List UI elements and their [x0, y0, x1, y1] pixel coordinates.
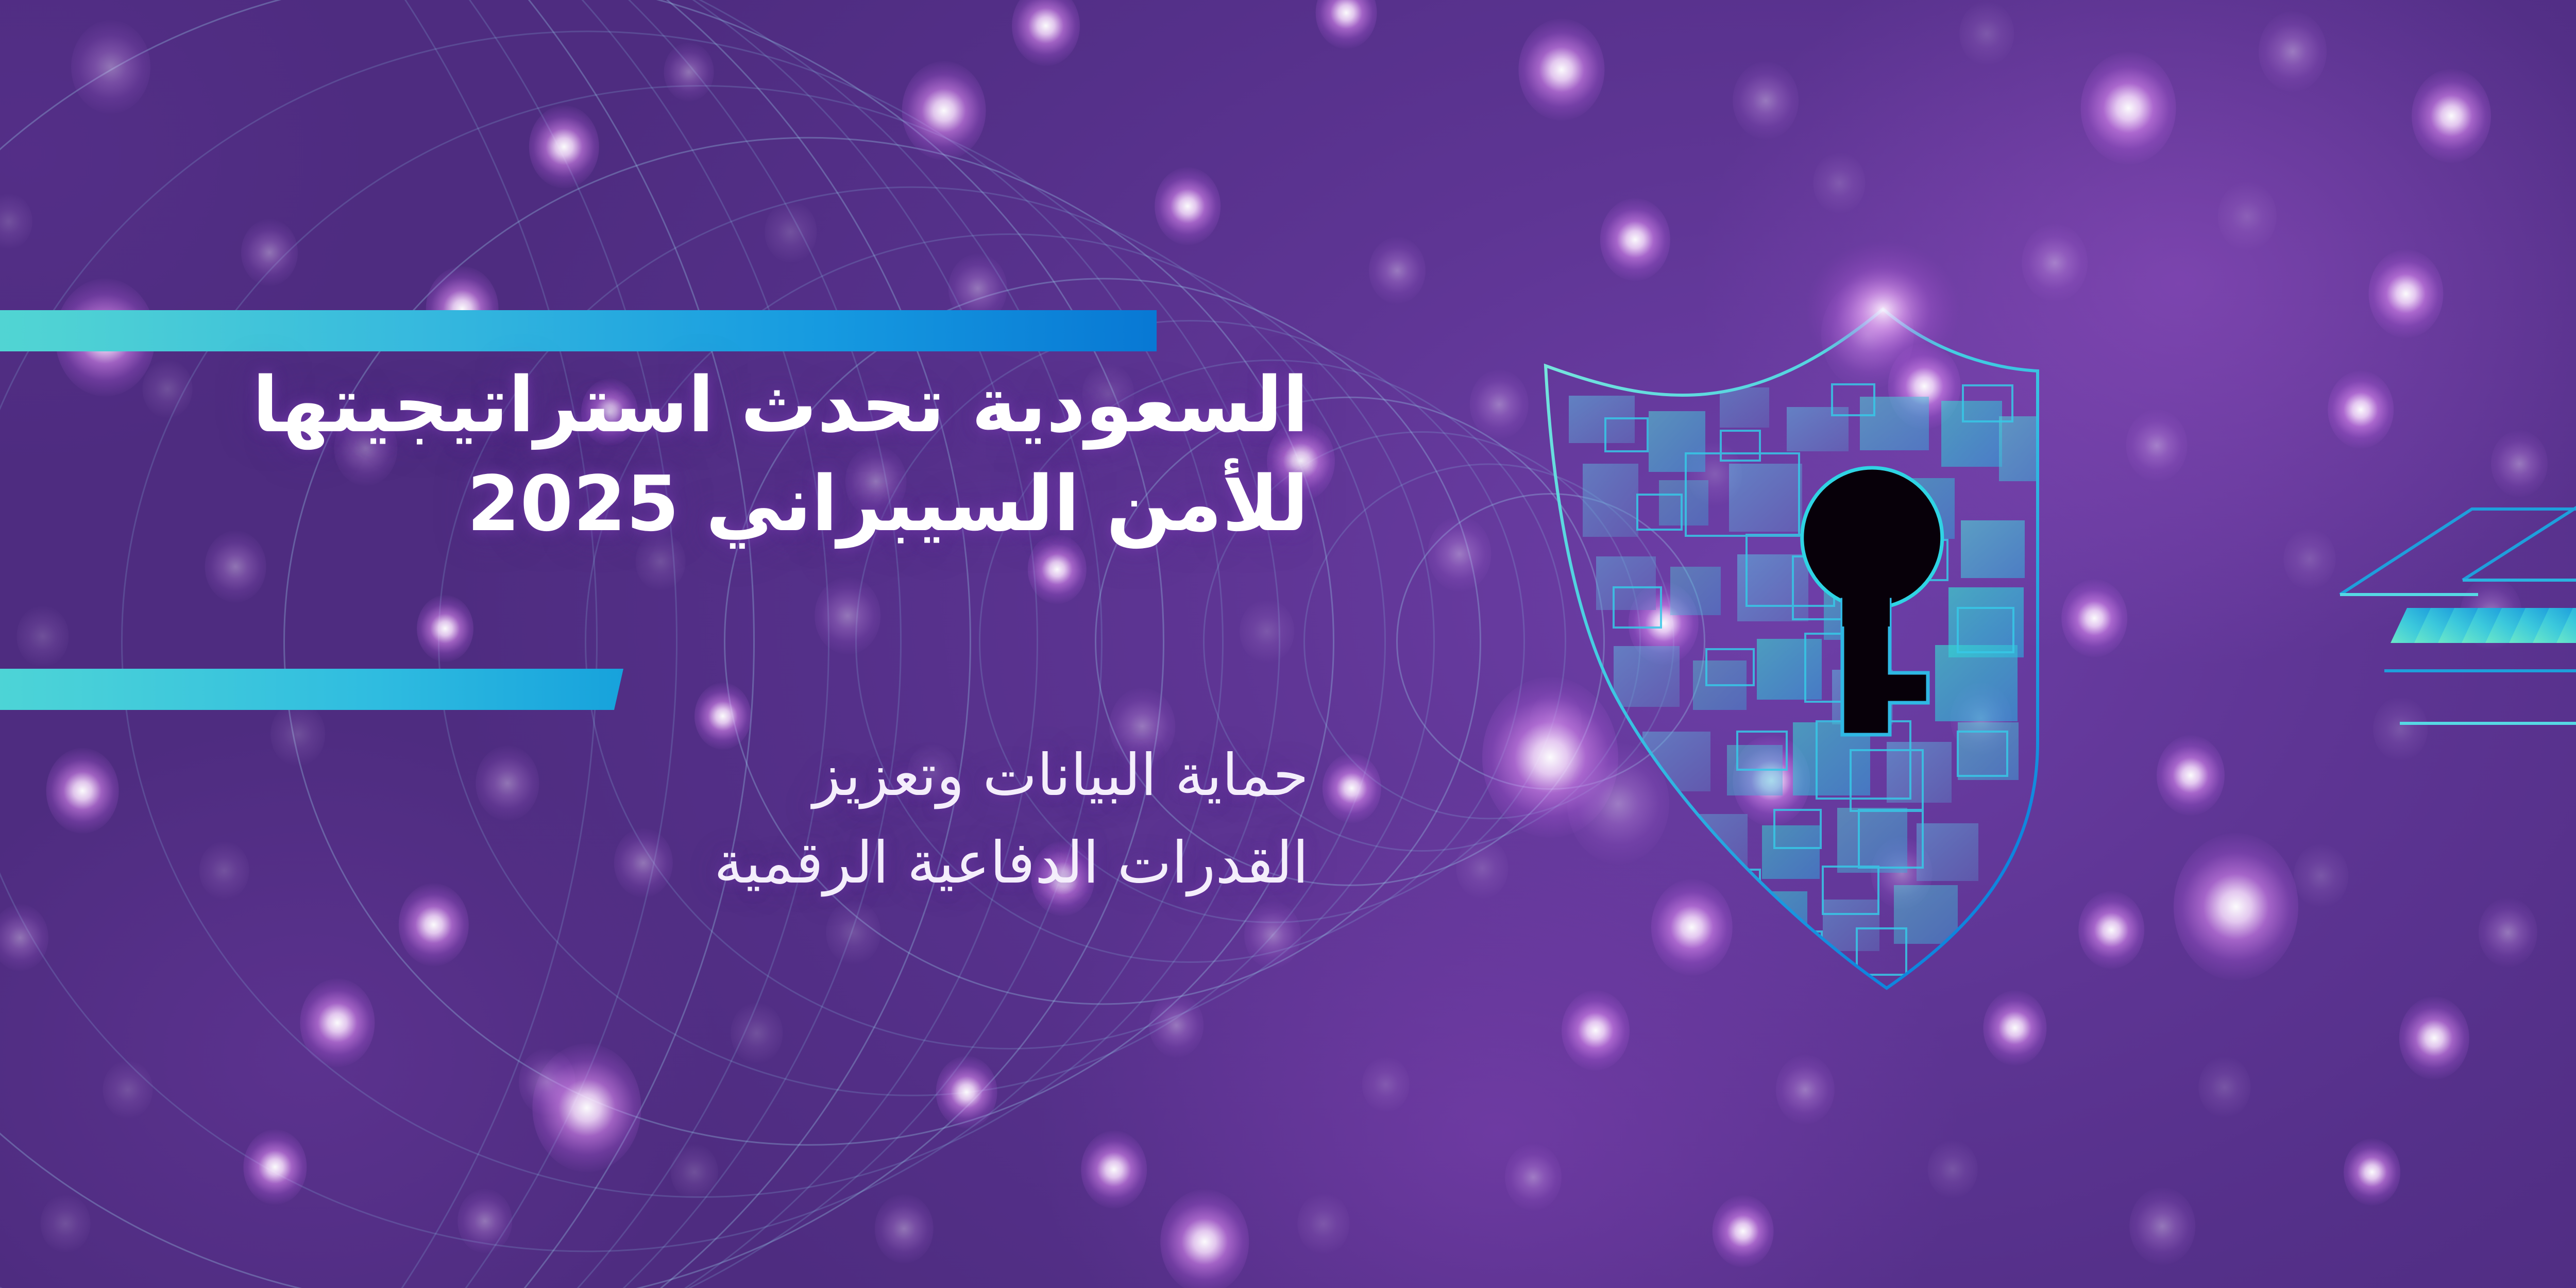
deco-diagonal-stripes [2391, 608, 2576, 643]
frame-top-bar [0, 310, 1157, 351]
deco-parallelogram-lower [2463, 495, 2576, 580]
tech-stripes-svg [2308, 448, 2576, 778]
shield-square-mosaic [1569, 384, 2055, 981]
subtitle-line-1: حماية البيانات وتعزيز [72, 732, 1309, 819]
headline-line-2: للأمن السيبراني 2025 [72, 454, 1309, 553]
keyhole-icon [1802, 468, 1942, 735]
shield-graphic [1504, 278, 2045, 1010]
shield-apex-glow [1806, 241, 1960, 380]
headline: السعودية تحدث استراتيجيتها للأمن السيبرا… [72, 355, 1309, 554]
subtitle-line-2: القدرات الدفاعية الرقمية [72, 819, 1309, 907]
shield-icon [1504, 278, 2045, 1010]
deco-parallelogram-upper [2340, 509, 2576, 595]
subtitle: حماية البيانات وتعزيز القدرات الدفاعية ا… [72, 732, 1309, 907]
tech-stripes-decoration [2308, 448, 2576, 778]
banner-root: السعودية تحدث استراتيجيتها للأمن السيبرا… [0, 0, 2576, 1288]
frame-bottom-bar [0, 669, 623, 710]
headline-line-1: السعودية تحدث استراتيجيتها [72, 355, 1309, 454]
